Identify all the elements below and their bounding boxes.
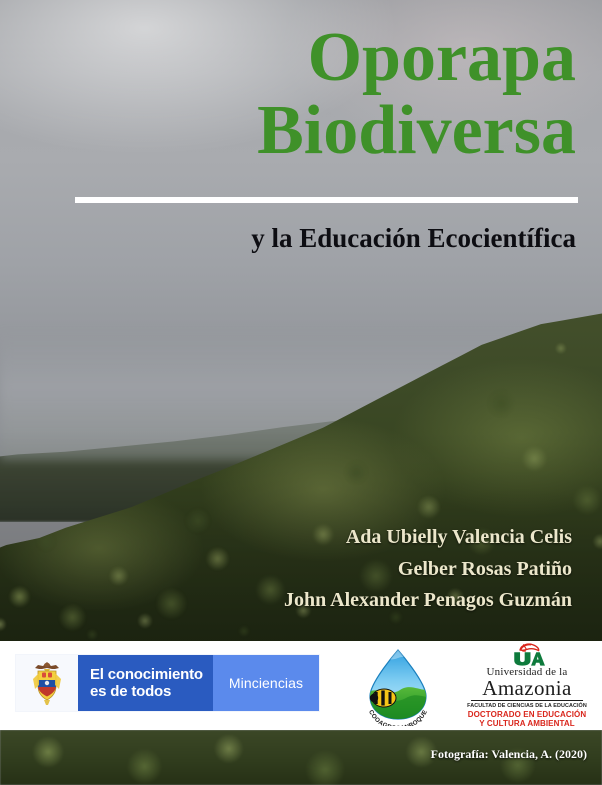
- cover-subtitle: y la Educación Ecocientífica: [0, 222, 602, 254]
- author-name: Gelber Rosas Patiño: [0, 554, 572, 586]
- author-name: John Alexander Penagos Guzmán: [0, 585, 572, 617]
- cooagrosanroque-logo: COOAGROSANROQUE: [352, 646, 444, 726]
- author-name: Ada Ubielly Valencia Celis: [0, 522, 572, 554]
- amazonia-logo: Universidad de la Amazonia FACULTAD DE C…: [466, 643, 588, 729]
- amazonia-divider: [471, 700, 583, 701]
- colombia-coat-of-arms-icon: [16, 655, 78, 711]
- amazonia-faculty: FACULTAD DE CIENCIAS DE LA EDUCACIÓN: [467, 703, 587, 710]
- water-drop-landscape-bee-icon: COOAGROSANROQUE: [352, 646, 444, 726]
- title-divider-rule: [75, 197, 578, 203]
- amazonia-line-2: Amazonia: [482, 678, 572, 699]
- book-cover: Oporapa Biodiversa y la Educación Ecocie…: [0, 0, 602, 785]
- title-line-2: Biodiversa: [0, 97, 576, 164]
- logo-band: El conocimiento es de todos Minciencias: [0, 641, 602, 730]
- photo-credit: Fotografía: Valencia, A. (2020): [431, 747, 587, 762]
- minciencias-brand: Minciencias: [213, 655, 319, 711]
- title-line-1: Oporapa: [0, 24, 576, 91]
- minciencias-brand-text: Minciencias: [229, 675, 303, 691]
- minciencias-logo: El conocimiento es de todos Minciencias: [15, 654, 320, 712]
- minciencias-slogan: El conocimiento es de todos: [78, 655, 213, 711]
- amazonia-program: DOCTORADO EN EDUCACIÓN Y CULTURA AMBIENT…: [468, 710, 587, 730]
- minciencias-slogan-text: El conocimiento es de todos: [90, 666, 203, 701]
- ua-monogram-toucan-icon: [495, 643, 559, 666]
- author-list: Ada Ubielly Valencia Celis Gelber Rosas …: [0, 522, 602, 617]
- cover-title: Oporapa Biodiversa: [0, 24, 602, 164]
